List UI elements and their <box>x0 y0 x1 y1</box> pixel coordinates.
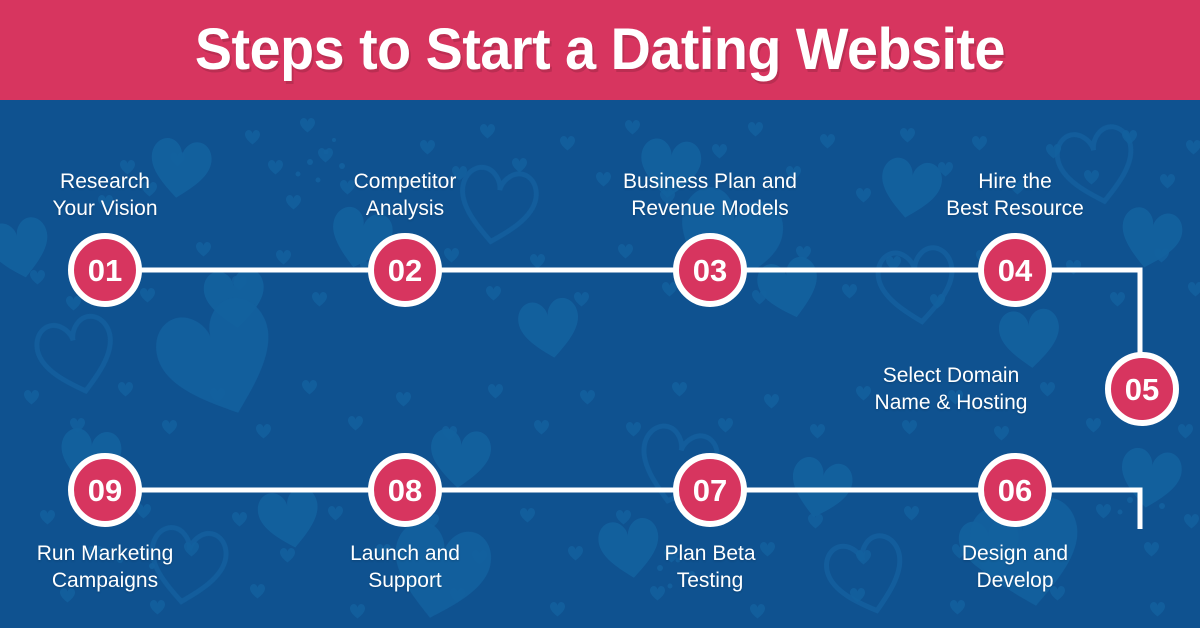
step-02-number: 02 <box>388 255 422 286</box>
step-06-circle[interactable]: 06 <box>978 453 1052 527</box>
step-04-circle[interactable]: 04 <box>978 233 1052 307</box>
step-07-number: 07 <box>693 475 727 506</box>
step-03-label: Business Plan and Revenue Models <box>560 168 860 222</box>
step-07-label: Plan Beta Testing <box>580 540 840 594</box>
step-09-circle[interactable]: 09 <box>68 453 142 527</box>
step-01-label: Research Your Vision <box>0 168 225 222</box>
step-03-circle[interactable]: 03 <box>673 233 747 307</box>
page-title: Steps to Start a Dating Website <box>195 21 1005 79</box>
step-08-circle[interactable]: 08 <box>368 453 442 527</box>
step-02-circle[interactable]: 02 <box>368 233 442 307</box>
step-05-label: Select Domain Name & Hosting <box>811 362 1091 416</box>
step-05-circle[interactable]: 05 <box>1105 352 1179 426</box>
header-banner: Steps to Start a Dating Website <box>0 0 1200 100</box>
step-08-number: 08 <box>388 475 422 506</box>
step-08-label: Launch and Support <box>275 540 535 594</box>
step-06-number: 06 <box>998 475 1032 506</box>
step-04-label: Hire the Best Resource <box>885 168 1145 222</box>
step-05-number: 05 <box>1125 374 1159 405</box>
step-09-label: Run Marketing Campaigns <box>0 540 235 594</box>
step-01-number: 01 <box>88 255 122 286</box>
step-02-label: Competitor Analysis <box>285 168 525 222</box>
infographic-canvas: Steps to Start a Dating Website Research… <box>0 0 1200 628</box>
step-09-number: 09 <box>88 475 122 506</box>
step-04-number: 04 <box>998 255 1032 286</box>
step-01-circle[interactable]: 01 <box>68 233 142 307</box>
step-03-number: 03 <box>693 255 727 286</box>
step-07-circle[interactable]: 07 <box>673 453 747 527</box>
step-06-label: Design and Develop <box>885 540 1145 594</box>
